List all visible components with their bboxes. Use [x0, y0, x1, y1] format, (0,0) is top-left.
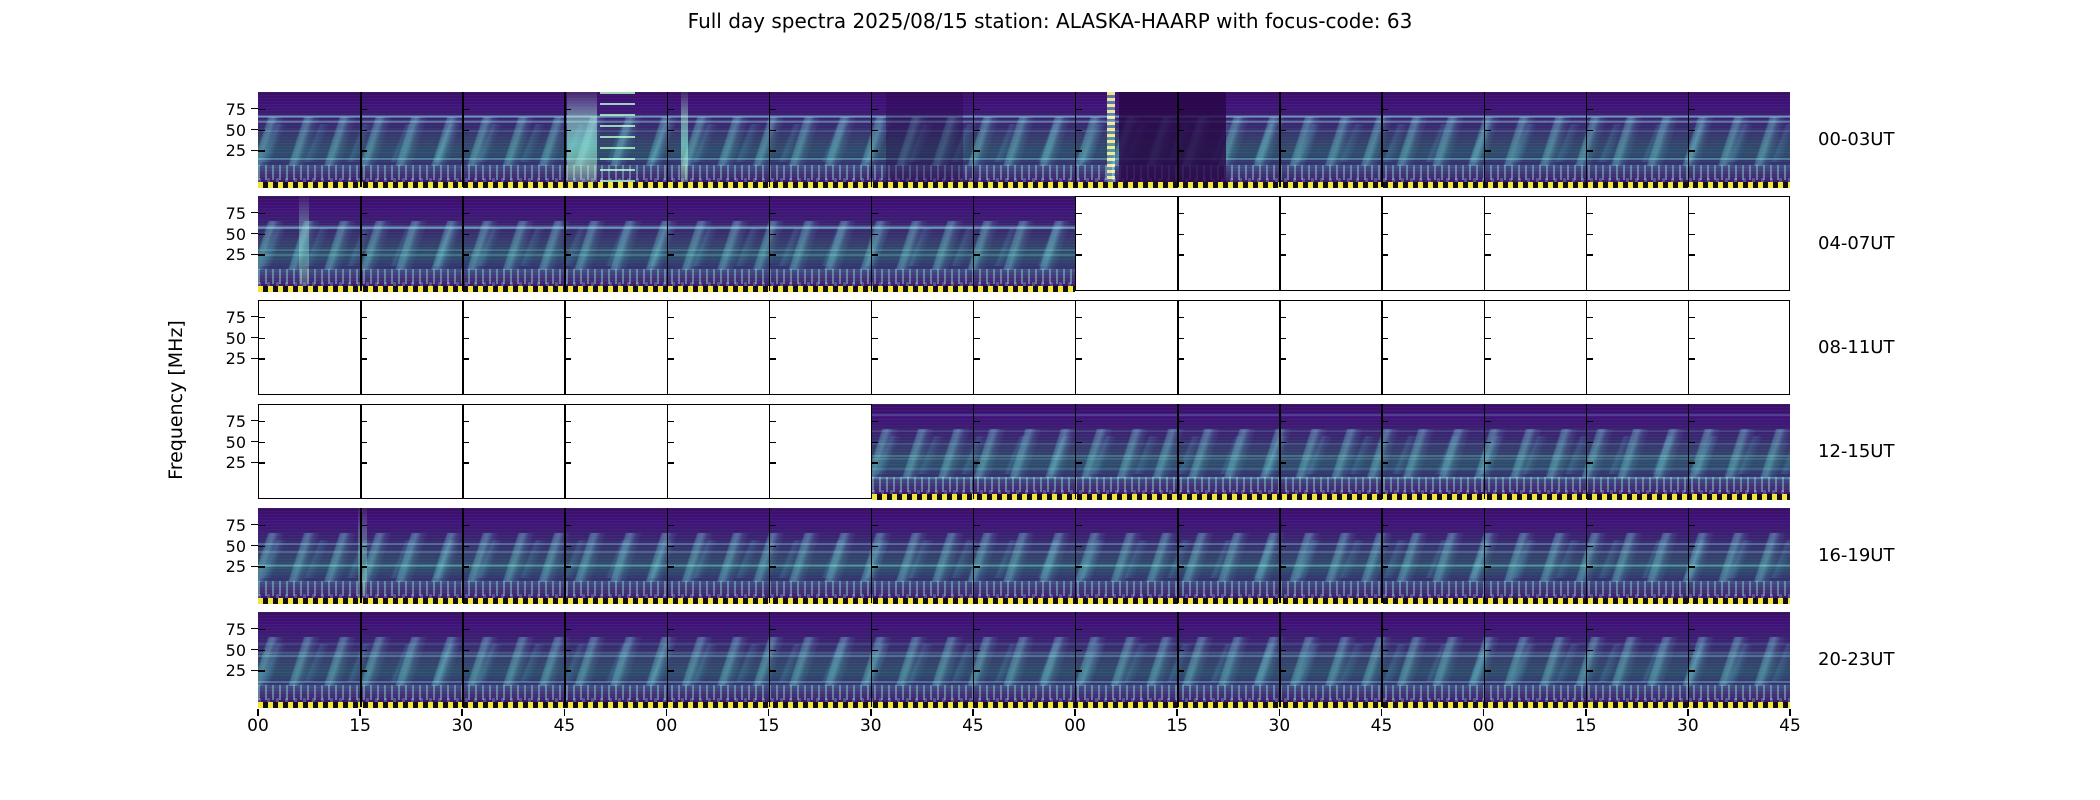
panel-divider	[1075, 612, 1076, 707]
y-tick-mark	[1177, 254, 1184, 256]
y-tick-mark	[1484, 566, 1491, 568]
y-tick-mark	[1484, 130, 1491, 132]
y-tick-mark	[462, 317, 469, 319]
y-tick-mark	[1381, 213, 1388, 215]
panel-divider	[667, 196, 668, 291]
interference-column	[681, 92, 689, 187]
row-frame	[258, 300, 1790, 395]
spectrogram-figure: Full day spectra 2025/08/15 station: ALA…	[0, 0, 2100, 800]
y-tick-mark	[1484, 317, 1491, 319]
horizontal-streak	[872, 430, 1790, 432]
y-tick-label: 25	[212, 141, 246, 160]
panel-divider	[769, 92, 770, 187]
y-tick-mark	[769, 421, 776, 423]
y-tick-mark	[973, 213, 980, 215]
y-tick-mark	[973, 421, 980, 423]
y-tick-label: 50	[212, 121, 246, 140]
horizontal-streak	[258, 655, 1790, 657]
panel-divider	[1177, 508, 1178, 603]
y-tick-mark	[1381, 109, 1388, 111]
y-tick-mark	[667, 650, 674, 652]
horizontal-streak	[258, 681, 1790, 683]
y-tick-mark	[1381, 629, 1388, 631]
y-tick-mark	[769, 150, 776, 152]
panel-divider	[462, 196, 463, 291]
y-tick-mark	[564, 629, 571, 631]
data-coverage-strip	[258, 598, 1790, 604]
y-tick-mark	[769, 358, 776, 360]
y-tick-mark	[462, 338, 469, 340]
panel-divider	[769, 196, 770, 291]
y-tick-mark	[769, 670, 776, 672]
y-tick-mark	[871, 629, 878, 631]
panel-divider	[564, 404, 565, 499]
y-tick-mark	[1688, 213, 1695, 215]
y-tick-mark	[667, 234, 674, 236]
y-tick-mark	[1484, 462, 1491, 464]
y-tick-mark	[973, 670, 980, 672]
y-tick-mark	[1279, 421, 1286, 423]
y-tick-mark	[871, 254, 878, 256]
panel-divider	[1381, 612, 1382, 707]
texture-layer	[258, 540, 1790, 578]
dark-patch	[886, 92, 963, 187]
panel-divider	[564, 612, 565, 707]
panel-divider	[1177, 196, 1178, 291]
y-tick-mark	[258, 629, 265, 631]
horizontal-streak	[258, 543, 1790, 545]
panel-divider	[360, 300, 361, 395]
y-tick-mark	[1688, 338, 1695, 340]
y-tick-mark	[1381, 150, 1388, 152]
y-tick-mark	[360, 109, 367, 111]
panel-divider	[667, 404, 668, 499]
y-tick-mark	[258, 546, 265, 548]
y-tick-mark	[1279, 338, 1286, 340]
spectrogram-texture	[872, 404, 1790, 499]
y-tick-label: 50	[212, 433, 246, 452]
panel-divider	[1586, 196, 1587, 291]
y-tick-mark	[1279, 546, 1286, 548]
y-tick-mark	[462, 130, 469, 132]
panel-divider	[667, 92, 668, 187]
y-tick-mark	[360, 629, 367, 631]
panel-divider	[564, 196, 565, 291]
panel-divider	[1279, 92, 1280, 187]
x-tick-label: 45	[1770, 716, 1810, 736]
y-tick-mark	[1177, 213, 1184, 215]
y-tick-mark	[462, 546, 469, 548]
panel-divider	[1688, 196, 1689, 291]
y-tick-mark	[1688, 254, 1695, 256]
y-tick-mark	[1484, 234, 1491, 236]
y-tick-mark	[1688, 629, 1695, 631]
panel-divider	[1279, 404, 1280, 499]
y-tick-mark	[251, 233, 258, 235]
y-tick-mark	[667, 442, 674, 444]
y-tick-mark	[667, 629, 674, 631]
y-tick-mark	[1688, 150, 1695, 152]
x-tick-label: 00	[238, 716, 278, 736]
panel-divider	[667, 508, 668, 603]
x-tick-mark	[1483, 709, 1485, 716]
y-tick-mark	[1586, 566, 1593, 568]
panel-divider	[1484, 196, 1485, 291]
panel-divider	[973, 92, 974, 187]
y-tick-mark	[1381, 462, 1388, 464]
panel-divider	[564, 92, 565, 187]
y-tick-mark	[251, 150, 258, 152]
y-tick-mark	[1586, 338, 1593, 340]
y-tick-label: 25	[212, 453, 246, 472]
y-tick-mark	[251, 545, 258, 547]
y-tick-label: 75	[212, 516, 246, 535]
y-tick-mark	[1381, 670, 1388, 672]
y-tick-mark	[360, 650, 367, 652]
y-tick-mark	[973, 358, 980, 360]
panel-divider	[871, 612, 872, 707]
y-tick-mark	[1484, 442, 1491, 444]
panel-divider	[973, 612, 974, 707]
panel-divider	[973, 508, 974, 603]
spectrogram-row-12-15	[258, 404, 1790, 499]
y-tick-mark	[564, 234, 571, 236]
data-coverage-strip	[258, 702, 1790, 708]
y-tick-mark	[1586, 462, 1593, 464]
panel-divider	[1586, 508, 1587, 603]
x-tick-mark	[768, 709, 770, 716]
y-tick-mark	[769, 130, 776, 132]
y-tick-mark	[258, 650, 265, 652]
spectrogram-row-20-23	[258, 612, 1790, 707]
y-tick-mark	[360, 130, 367, 132]
y-tick-mark	[462, 629, 469, 631]
row-label-00-03: 00-03UT	[1818, 129, 1894, 150]
horizontal-streak	[872, 468, 1790, 470]
y-tick-mark	[1279, 566, 1286, 568]
y-tick-mark	[462, 213, 469, 215]
y-tick-mark	[1177, 150, 1184, 152]
y-tick-mark	[360, 462, 367, 464]
panel-divider	[1279, 300, 1280, 395]
panel-divider	[871, 300, 872, 395]
panel-divider	[769, 612, 770, 707]
y-tick-mark	[1177, 462, 1184, 464]
y-tick-mark	[1177, 650, 1184, 652]
y-tick-mark	[1688, 358, 1695, 360]
data-coverage-strip	[258, 182, 1790, 188]
panel-divider	[871, 508, 872, 603]
y-tick-mark	[1177, 442, 1184, 444]
y-tick-mark	[564, 650, 571, 652]
y-tick-mark	[1075, 234, 1082, 236]
y-tick-mark	[1075, 525, 1082, 527]
y-tick-mark	[871, 650, 878, 652]
x-tick-mark	[870, 709, 872, 716]
spectrogram-data-20-23	[258, 612, 1790, 707]
panel-divider	[1075, 92, 1076, 187]
panel-divider	[462, 612, 463, 707]
y-tick-mark	[564, 525, 571, 527]
y-tick-mark	[1586, 358, 1593, 360]
y-tick-mark	[258, 317, 265, 319]
x-tick-label: 15	[1566, 716, 1606, 736]
panel-divider	[769, 404, 770, 499]
y-tick-mark	[1586, 317, 1593, 319]
y-tick-mark	[1177, 109, 1184, 111]
y-tick-mark	[871, 150, 878, 152]
y-tick-mark	[564, 421, 571, 423]
y-tick-mark	[769, 629, 776, 631]
y-tick-mark	[251, 462, 258, 464]
dark-patch	[1119, 92, 1226, 187]
y-tick-mark	[360, 213, 367, 215]
y-tick-mark	[1075, 213, 1082, 215]
panel-divider	[667, 300, 668, 395]
horizontal-streak	[872, 443, 1790, 445]
y-tick-mark	[360, 421, 367, 423]
y-tick-mark	[360, 317, 367, 319]
y-tick-label: 50	[212, 225, 246, 244]
spectrogram-row-00-03	[258, 92, 1790, 187]
y-tick-mark	[462, 566, 469, 568]
y-tick-mark	[360, 358, 367, 360]
y-tick-mark	[462, 254, 469, 256]
y-tick-mark	[251, 670, 258, 672]
y-tick-mark	[1279, 670, 1286, 672]
x-tick-label: 30	[442, 716, 482, 736]
y-tick-mark	[1177, 234, 1184, 236]
row-label-12-15: 12-15UT	[1818, 441, 1894, 462]
y-tick-mark	[1688, 462, 1695, 464]
y-tick-mark	[1586, 442, 1593, 444]
x-tick-mark	[461, 709, 463, 716]
panel-divider	[1279, 196, 1280, 291]
x-tick-label: 45	[953, 716, 993, 736]
y-tick-mark	[871, 421, 878, 423]
y-tick-mark	[1381, 317, 1388, 319]
y-tick-mark	[1279, 234, 1286, 236]
y-tick-mark	[871, 546, 878, 548]
panel-divider	[973, 300, 974, 395]
page-title: Full day spectra 2025/08/15 station: ALA…	[0, 9, 2100, 33]
horizontal-streak	[258, 130, 1790, 132]
y-tick-mark	[1586, 254, 1593, 256]
y-tick-mark	[462, 462, 469, 464]
y-tick-mark	[1381, 234, 1388, 236]
y-tick-mark	[251, 129, 258, 131]
y-tick-mark	[1279, 213, 1286, 215]
y-tick-mark	[258, 109, 265, 111]
y-tick-mark	[1177, 629, 1184, 631]
y-tick-mark	[667, 566, 674, 568]
y-tick-mark	[973, 150, 980, 152]
y-tick-mark	[258, 442, 265, 444]
panel-divider	[360, 92, 361, 187]
y-tick-mark	[667, 525, 674, 527]
horizontal-streak	[258, 115, 1790, 117]
y-tick-mark	[258, 358, 265, 360]
y-tick-mark	[1075, 566, 1082, 568]
y-tick-mark	[564, 317, 571, 319]
y-tick-mark	[1688, 650, 1695, 652]
y-tick-mark	[871, 442, 878, 444]
y-tick-mark	[973, 566, 980, 568]
y-tick-mark	[1688, 234, 1695, 236]
y-tick-mark	[769, 566, 776, 568]
x-tick-mark	[972, 709, 974, 716]
y-tick-mark	[1484, 150, 1491, 152]
y-tick-mark	[1279, 462, 1286, 464]
panel-divider	[1381, 508, 1382, 603]
x-tick-mark	[1279, 709, 1281, 716]
y-tick-mark	[564, 254, 571, 256]
y-tick-mark	[1381, 254, 1388, 256]
y-tick-mark	[1075, 254, 1082, 256]
x-tick-mark	[1585, 709, 1587, 716]
y-tick-mark	[667, 358, 674, 360]
x-tick-label: 15	[1157, 716, 1197, 736]
saturated-column	[1107, 92, 1115, 187]
y-tick-mark	[251, 628, 258, 630]
y-tick-mark	[973, 234, 980, 236]
y-tick-mark	[1484, 254, 1491, 256]
y-tick-mark	[1586, 629, 1593, 631]
interference-column	[567, 92, 596, 187]
panel-divider	[1381, 300, 1382, 395]
y-tick-mark	[1177, 317, 1184, 319]
y-tick-mark	[258, 130, 265, 132]
x-tick-label: 00	[1055, 716, 1095, 736]
spectrogram-texture	[258, 612, 1790, 707]
y-tick-mark	[1279, 358, 1286, 360]
horizontal-streak	[258, 551, 1790, 553]
y-tick-mark	[1279, 109, 1286, 111]
panel-divider	[462, 92, 463, 187]
panel-divider	[1177, 300, 1178, 395]
y-tick-mark	[258, 150, 265, 152]
y-tick-mark	[564, 546, 571, 548]
y-tick-mark	[1688, 109, 1695, 111]
panel-divider	[1484, 300, 1485, 395]
y-tick-label: 75	[212, 100, 246, 119]
y-tick-mark	[1381, 566, 1388, 568]
y-tick-mark	[1586, 130, 1593, 132]
y-tick-mark	[258, 525, 265, 527]
y-tick-mark	[1177, 358, 1184, 360]
texture-layer	[258, 644, 1790, 682]
x-tick-mark	[359, 709, 361, 716]
horizontal-streak	[872, 458, 1790, 460]
y-tick-mark	[973, 650, 980, 652]
y-tick-mark	[769, 525, 776, 527]
y-tick-mark	[462, 650, 469, 652]
y-tick-label: 75	[212, 412, 246, 431]
y-tick-mark	[1484, 670, 1491, 672]
y-tick-mark	[360, 254, 367, 256]
y-tick-mark	[1075, 358, 1082, 360]
panel-divider	[1484, 612, 1485, 707]
y-tick-mark	[360, 338, 367, 340]
y-tick-mark	[973, 130, 980, 132]
y-tick-mark	[258, 566, 265, 568]
y-tick-mark	[1484, 525, 1491, 527]
panel-divider	[1279, 508, 1280, 603]
y-tick-mark	[871, 234, 878, 236]
y-tick-label: 25	[212, 349, 246, 368]
panel-divider	[973, 196, 974, 291]
y-tick-mark	[667, 546, 674, 548]
y-tick-mark	[1586, 234, 1593, 236]
horizontal-streak	[258, 565, 1790, 567]
y-tick-mark	[1586, 109, 1593, 111]
panel-divider	[1177, 612, 1178, 707]
panel-divider	[564, 508, 565, 603]
y-tick-mark	[1381, 442, 1388, 444]
y-tick-mark	[258, 234, 265, 236]
y-tick-mark	[251, 649, 258, 651]
x-tick-label: 30	[1259, 716, 1299, 736]
y-tick-mark	[1075, 670, 1082, 672]
panel-divider	[1484, 404, 1485, 499]
panel-divider	[1177, 404, 1178, 499]
horizontal-streak	[872, 455, 1790, 457]
panel-divider	[1688, 612, 1689, 707]
y-tick-mark	[1688, 566, 1695, 568]
y-tick-mark	[973, 462, 980, 464]
panel-divider	[360, 404, 361, 499]
x-tick-mark	[1176, 709, 1178, 716]
y-tick-mark	[1688, 317, 1695, 319]
y-tick-mark	[258, 421, 265, 423]
y-tick-mark	[1484, 338, 1491, 340]
y-tick-mark	[1484, 213, 1491, 215]
y-tick-mark	[667, 130, 674, 132]
y-tick-mark	[667, 421, 674, 423]
y-tick-mark	[251, 524, 258, 526]
y-tick-mark	[1177, 566, 1184, 568]
y-tick-mark	[1484, 358, 1491, 360]
y-tick-mark	[871, 670, 878, 672]
panel-divider	[462, 508, 463, 603]
panel-divider	[1075, 196, 1076, 291]
panel-divider	[462, 404, 463, 499]
row-label-16-19: 16-19UT	[1818, 545, 1894, 566]
panel-divider	[1586, 612, 1587, 707]
x-tick-label: 30	[1668, 716, 1708, 736]
y-tick-label: 75	[212, 204, 246, 223]
y-tick-mark	[1075, 109, 1082, 111]
panel-divider	[1586, 404, 1587, 499]
panel-divider	[1688, 300, 1689, 395]
striped-interference-column	[600, 92, 635, 187]
panel-divider	[1075, 300, 1076, 395]
y-tick-mark	[462, 150, 469, 152]
horizontal-streak	[258, 121, 1790, 123]
y-tick-mark	[871, 525, 878, 527]
y-tick-mark	[251, 212, 258, 214]
x-tick-label: 30	[851, 716, 891, 736]
y-tick-mark	[769, 109, 776, 111]
y-tick-mark	[667, 317, 674, 319]
y-tick-mark	[1075, 421, 1082, 423]
y-tick-mark	[258, 338, 265, 340]
y-tick-mark	[769, 650, 776, 652]
x-tick-mark	[564, 709, 566, 716]
y-tick-mark	[1279, 317, 1286, 319]
y-tick-mark	[462, 442, 469, 444]
y-tick-mark	[360, 150, 367, 152]
